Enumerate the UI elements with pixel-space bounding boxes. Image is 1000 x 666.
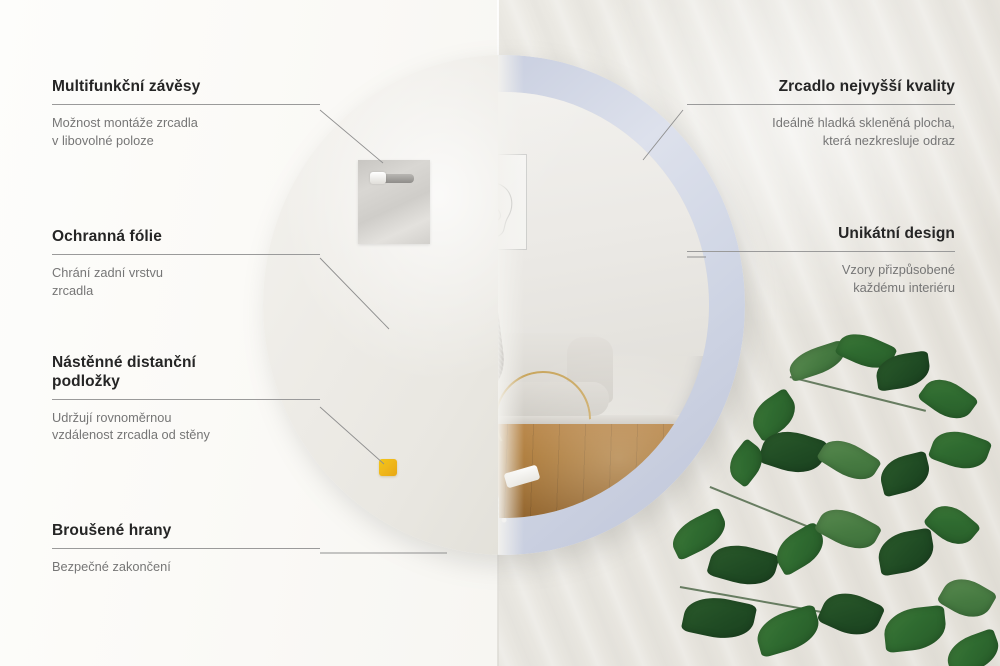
- callout-rule: [52, 254, 320, 255]
- foliage-decoration: [670, 336, 1000, 666]
- callout-nastenne-distancni-podlozky: Nástěnné distanční podložky Udržují rovn…: [52, 354, 320, 444]
- callout-body: Možnost montáže zrcadla v libovolné polo…: [52, 114, 320, 149]
- callout-rule: [52, 548, 320, 549]
- callout-zrcadlo-nejvyssi-kvality: Zrcadlo nejvyšší kvality Ideálně hladká …: [687, 78, 955, 149]
- front-edge-shading: [498, 55, 524, 555]
- leaf: [816, 584, 885, 644]
- leaf: [706, 538, 780, 593]
- callout-body: Ideálně hladká skleněná plocha, která ne…: [687, 114, 955, 149]
- callout-ochranna-folie: Ochranná fólie Chrání zadní vrstvu zrcad…: [52, 228, 320, 299]
- callout-body: Vzory přizpůsobené každému interiéru: [687, 261, 955, 296]
- leaf: [816, 431, 882, 489]
- callout-rule: [687, 104, 955, 105]
- leaf: [936, 570, 997, 626]
- callout-rule: [52, 104, 320, 105]
- wall-spacer-pad: [379, 459, 397, 476]
- callout-title: Ochranná fólie: [52, 228, 320, 247]
- callout-body: Bezpečné zakončení: [52, 558, 320, 576]
- callout-rule: [687, 251, 955, 252]
- leaf: [882, 605, 948, 653]
- callout-body: Udržují rovnoměrnou vzdálenost zrcadla o…: [52, 409, 320, 444]
- callout-title: Nástěnné distanční podložky: [52, 354, 320, 392]
- leaf: [928, 424, 993, 477]
- leaf: [814, 500, 883, 558]
- callout-title: Broušené hrany: [52, 522, 320, 541]
- callout-title: Multifunkční závěsy: [52, 78, 320, 97]
- hanger-plate: [358, 160, 430, 244]
- leaf: [752, 604, 824, 658]
- callout-brousene-hrany: Broušené hrany Bezpečné zakončení: [52, 522, 320, 576]
- callout-title: Unikátní design: [687, 225, 955, 244]
- callout-multifunkcni-zavesy: Multifunkční závěsy Možnost montáže zrca…: [52, 78, 320, 149]
- leaf: [876, 450, 933, 497]
- leaf: [917, 370, 979, 428]
- leaf: [875, 527, 937, 576]
- product-infographic: Multifunkční závěsy Možnost montáže zrca…: [0, 0, 1000, 666]
- hanger-slot-icon: [370, 174, 414, 183]
- callout-rule: [52, 399, 320, 400]
- callout-body: Chrání zadní vrstvu zrcadla: [52, 264, 320, 299]
- leaf: [942, 628, 1000, 666]
- callout-unikatni-design: Unikátní design Vzory přizpůsobené každé…: [687, 225, 955, 296]
- callout-title: Zrcadlo nejvyšší kvality: [687, 78, 955, 97]
